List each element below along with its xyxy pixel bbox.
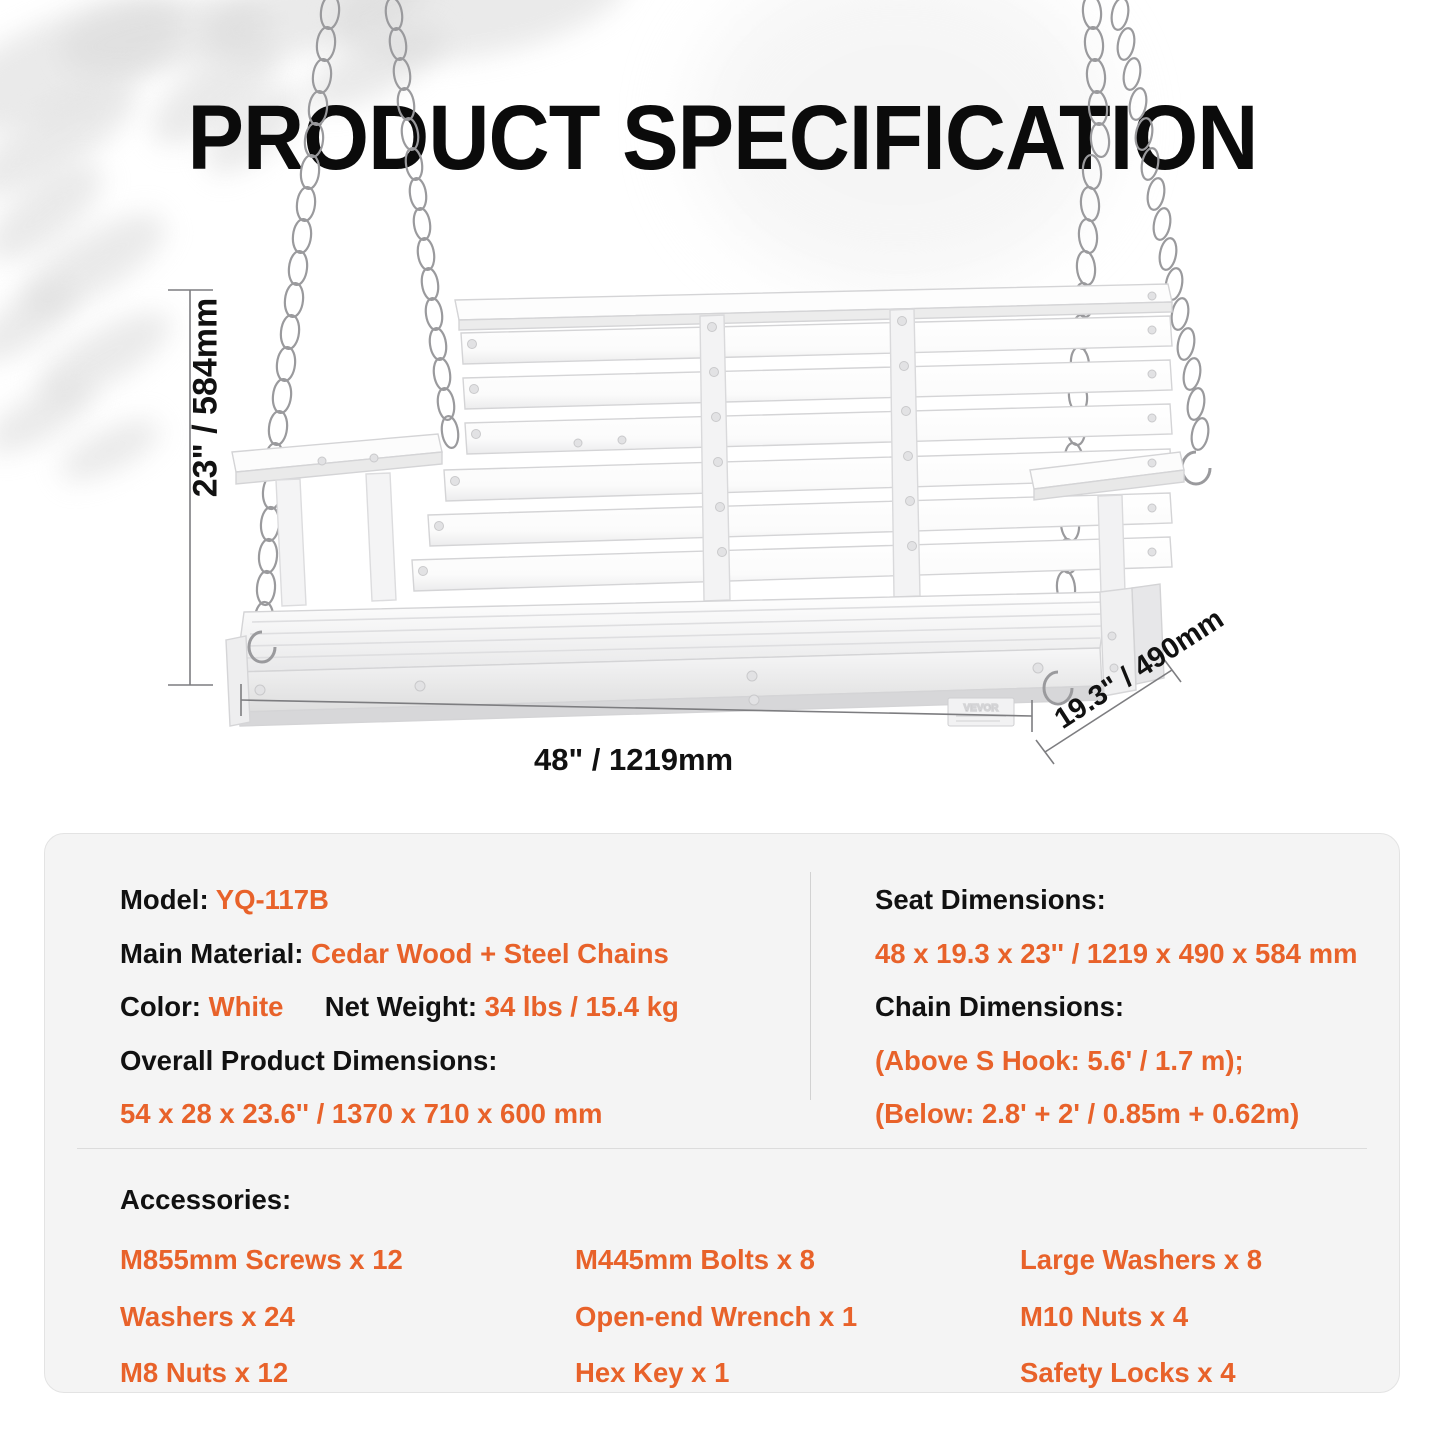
accessories-section: Accessories: M855mm Screws x 12 Washers … (120, 1184, 1359, 1387)
spec-model-row: Model: YQ-117B (120, 886, 780, 914)
spec-weight-value: 34 lbs / 15.4 kg (485, 991, 679, 1022)
accessory-item: Washers x 24 (120, 1303, 575, 1331)
spec-chain-below: (Below: 2.8' + 2' / 0.85m + 0.62m) (875, 1100, 1375, 1128)
spec-model-value: YQ-117B (216, 884, 329, 915)
accessories-column-2: M445mm Bolts x 8 Open-end Wrench x 1 Hex… (575, 1246, 1020, 1387)
spec-color-weight-row: Color: White Net Weight: 34 lbs / 15.4 k… (120, 993, 780, 1021)
spec-chain-label: Chain Dimensions: (875, 993, 1375, 1021)
accessory-item: M855mm Screws x 12 (120, 1246, 575, 1274)
dimension-width-label: 48" / 1219mm (534, 742, 733, 778)
accessories-title: Accessories: (120, 1184, 1359, 1216)
spec-color-value: White (209, 991, 284, 1022)
poster-stage: PRODUCT SPECIFICATION (0, 0, 1445, 1445)
spec-weight-label: Net Weight: (325, 991, 477, 1022)
accessories-column-3: Large Washers x 8 M10 Nuts x 4 Safety Lo… (1020, 1246, 1262, 1387)
accessory-item: M445mm Bolts x 8 (575, 1246, 1020, 1274)
accessory-item: M8 Nuts x 12 (120, 1359, 575, 1387)
spec-overall-label: Overall Product Dimensions: (120, 1047, 780, 1075)
accessories-column-1: M855mm Screws x 12 Washers x 24 M8 Nuts … (120, 1246, 575, 1387)
spec-color-label: Color: (120, 991, 201, 1022)
svg-text:VEVOR: VEVOR (963, 703, 999, 714)
accessory-item: Safety Locks x 4 (1020, 1359, 1262, 1387)
spec-model-label: Model: (120, 884, 209, 915)
spec-material-row: Main Material: Cedar Wood + Steel Chains (120, 940, 780, 968)
spec-material-label: Main Material: (120, 938, 303, 969)
dimension-height-label: 23" / 584mm (187, 288, 226, 508)
spec-chain-above: (Above S Hook: 5.6' / 1.7 m); (875, 1047, 1375, 1075)
accessory-item: Large Washers x 8 (1020, 1246, 1262, 1274)
accessory-item: Hex Key x 1 (575, 1359, 1020, 1387)
spec-column-left: Model: YQ-117B Main Material: Cedar Wood… (120, 886, 780, 1154)
specification-card: Model: YQ-117B Main Material: Cedar Wood… (44, 833, 1400, 1393)
vevor-brand-plate: VEVOR (948, 698, 1014, 726)
spec-seat-value: 48 x 19.3 x 23'' / 1219 x 490 x 584 mm (875, 940, 1375, 968)
spec-seat-label: Seat Dimensions: (875, 886, 1375, 914)
vertical-divider (810, 872, 811, 1100)
accessory-item: M10 Nuts x 4 (1020, 1303, 1262, 1331)
spec-column-right: Seat Dimensions: 48 x 19.3 x 23'' / 1219… (875, 886, 1375, 1154)
spec-overall-value: 54 x 28 x 23.6'' / 1370 x 710 x 600 mm (120, 1100, 780, 1128)
spec-material-value: Cedar Wood + Steel Chains (311, 938, 669, 969)
accessory-item: Open-end Wrench x 1 (575, 1303, 1020, 1331)
